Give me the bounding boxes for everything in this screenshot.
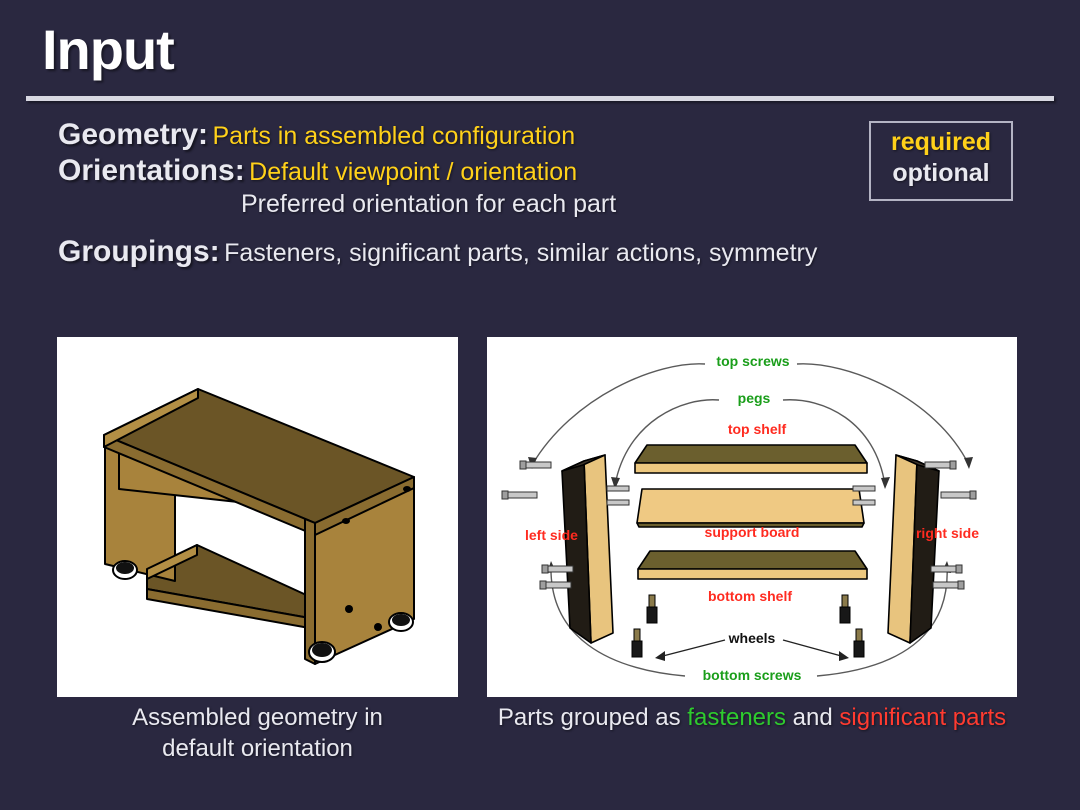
bullet-label-orientations: Orientations: bbox=[58, 154, 245, 187]
part-top-shelf bbox=[635, 445, 867, 473]
label-pegs: pegs bbox=[738, 390, 771, 406]
part-support-board bbox=[637, 489, 864, 527]
figure-exploded-grouping: top screws pegs top shelf left side supp… bbox=[487, 337, 1017, 697]
caption-exploded-grouping: Parts grouped as fasteners and significa… bbox=[487, 703, 1017, 734]
exploded-parts-drawing: top screws pegs top shelf left side supp… bbox=[487, 337, 1017, 697]
bullet-label-geometry: Geometry: bbox=[58, 118, 208, 151]
caster-wheel bbox=[309, 642, 335, 662]
caption-right-prefix: Parts grouped as bbox=[498, 704, 687, 731]
part-bottom-shelf bbox=[638, 551, 867, 579]
label-wheels: wheels bbox=[728, 630, 776, 646]
page-title: Input bbox=[42, 22, 174, 78]
label-support-board: support board bbox=[705, 524, 800, 540]
legend-box: required optional bbox=[869, 121, 1013, 201]
assembled-desk-drawing bbox=[57, 337, 458, 697]
caption-left-line1: Assembled geometry in bbox=[132, 704, 383, 731]
part-left-side bbox=[562, 455, 613, 643]
caption-assembled-geometry: Assembled geometry in default orientatio… bbox=[57, 703, 458, 764]
caption-left-line2: default orientation bbox=[162, 735, 353, 762]
label-left-side: left side bbox=[525, 527, 578, 543]
caption-right-middle: and bbox=[786, 704, 839, 731]
bullet-label-groupings: Groupings: bbox=[58, 235, 220, 268]
bullet-row-groupings: Groupings: Fasteners, significant parts,… bbox=[58, 235, 1018, 269]
legend-required-label: required bbox=[871, 127, 1011, 158]
label-bottom-screws: bottom screws bbox=[703, 667, 802, 683]
label-top-shelf: top shelf bbox=[728, 421, 787, 437]
part-wheel bbox=[632, 595, 864, 657]
bullet-value-orientations: Default viewpoint / orientation bbox=[249, 158, 577, 186]
legend-optional-label: optional bbox=[871, 158, 1011, 189]
label-right-side: right side bbox=[916, 525, 979, 541]
bullet-value-groupings: Fasteners, significant parts, similar ac… bbox=[224, 239, 817, 267]
arrowheads-pegs bbox=[611, 477, 890, 489]
label-top-screws: top screws bbox=[716, 353, 789, 369]
bullet-value-preferred-orientation: Preferred orientation for each part bbox=[241, 190, 616, 218]
caption-right-fasteners: fasteners bbox=[687, 704, 786, 731]
bullet-value-geometry: Parts in assembled configuration bbox=[213, 122, 576, 150]
figure-assembled-geometry bbox=[57, 337, 458, 697]
title-divider bbox=[26, 96, 1054, 101]
arrowheads-wheels bbox=[655, 651, 849, 661]
caster-wheel bbox=[113, 561, 137, 579]
caster-wheel bbox=[389, 613, 413, 631]
caption-right-significant: significant parts bbox=[839, 704, 1006, 731]
part-right-side bbox=[888, 455, 939, 643]
label-bottom-shelf: bottom shelf bbox=[708, 588, 792, 604]
